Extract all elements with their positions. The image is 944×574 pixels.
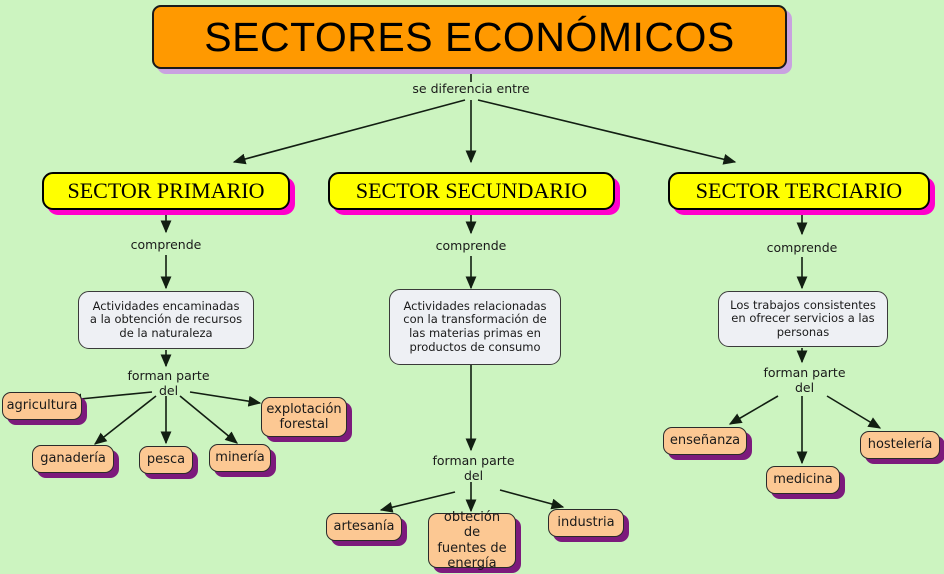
- sector-node-secondary[interactable]: SECTOR SECUNDARIO: [328, 172, 615, 210]
- edge-primary-part-to-explotacion: [190, 392, 260, 403]
- edge-diff-to-tertiary: [478, 100, 735, 162]
- sector-node-secondary-label: SECTOR SECUNDARIO: [356, 178, 587, 204]
- definition-node-tertiary[interactable]: Los trabajos consistentes en ofrecer ser…: [718, 291, 888, 347]
- edge-label-comprende-secondary: comprende: [411, 238, 531, 253]
- leaf-node-pesca[interactable]: pesca: [139, 446, 193, 474]
- concept-map: SECTORES ECONÓMICOS se diferencia entre …: [0, 0, 944, 574]
- leaf-node-artesania[interactable]: artesanía: [326, 513, 402, 541]
- leaf-node-industria[interactable]: industria: [548, 509, 624, 537]
- leaf-node-obtencion-fuentes-energia[interactable]: obteción de fuentes de energía: [428, 513, 516, 568]
- sector-node-primary-label: SECTOR PRIMARIO: [67, 178, 264, 204]
- leaf-node-ensenanza[interactable]: enseñanza: [663, 427, 747, 455]
- edge-tertiary-part-to-ensenanza: [730, 396, 778, 424]
- edge-label-comprende-primary: comprende: [106, 237, 226, 252]
- leaf-node-medicina[interactable]: medicina: [766, 466, 840, 494]
- root-node-sectores-economicos[interactable]: SECTORES ECONÓMICOS: [152, 5, 787, 69]
- sector-node-primary[interactable]: SECTOR PRIMARIO: [42, 172, 290, 210]
- edge-label-comprende-tertiary: comprende: [742, 240, 862, 255]
- root-node-label: SECTORES ECONÓMICOS: [204, 13, 734, 61]
- edge-primary-part-to-agricultura: [70, 392, 152, 400]
- edge-diff-to-primary: [234, 100, 465, 162]
- edge-label-forman-parte-secondary: forman parte del: [411, 453, 536, 484]
- definition-node-secondary[interactable]: Actividades relacionadas con la transfor…: [389, 289, 561, 365]
- leaf-node-hosteleria[interactable]: hostelería: [860, 431, 940, 459]
- edge-primary-part-to-mineria: [180, 396, 237, 443]
- sector-node-tertiary[interactable]: SECTOR TERCIARIO: [668, 172, 930, 210]
- edge-secondary-part-to-artesania: [381, 492, 455, 510]
- leaf-node-explotacion-forestal[interactable]: explotación forestal: [261, 397, 347, 437]
- definition-node-primary[interactable]: Actividades encaminadas a la obtención d…: [78, 291, 254, 349]
- leaf-node-ganaderia[interactable]: ganadería: [32, 445, 114, 473]
- edge-secondary-part-to-industria: [500, 490, 563, 507]
- edge-label-se-diferencia-entre: se diferencia entre: [381, 81, 561, 96]
- sector-node-tertiary-label: SECTOR TERCIARIO: [696, 178, 902, 204]
- edge-tertiary-part-to-hosteleria: [827, 396, 880, 428]
- edge-label-forman-parte-primary: forman parte del: [106, 368, 231, 399]
- edge-label-forman-parte-tertiary: forman parte del: [742, 365, 867, 396]
- leaf-node-mineria[interactable]: minería: [209, 444, 271, 472]
- edge-primary-part-to-ganaderia: [95, 396, 156, 444]
- leaf-node-agricultura[interactable]: agricultura: [2, 392, 82, 420]
